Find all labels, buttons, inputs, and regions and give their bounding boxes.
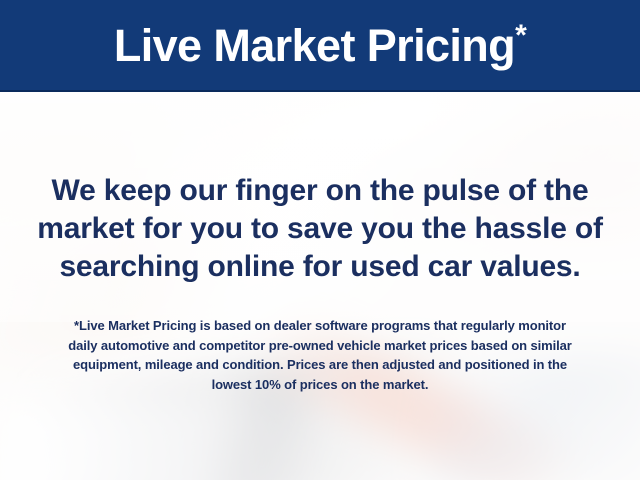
header-banner: Live Market Pricing* bbox=[0, 0, 640, 92]
disclaimer-line-3: equipment, mileage and condition. Prices… bbox=[26, 355, 614, 375]
headline: We keep our finger on the pulse of the m… bbox=[20, 172, 620, 286]
disclaimer-line-1: *Live Market Pricing is based on dealer … bbox=[26, 316, 614, 336]
disclaimer: *Live Market Pricing is based on dealer … bbox=[26, 316, 614, 394]
marketing-graphic: Live Market Pricing* We keep our finger … bbox=[0, 0, 640, 480]
page-title-text: Live Market Pricing bbox=[114, 20, 515, 71]
background-photo bbox=[0, 92, 640, 480]
headline-line-2: market for you to save you the hassle of bbox=[20, 210, 620, 248]
disclaimer-line-4: lowest 10% of prices on the market. bbox=[26, 375, 614, 395]
headline-line-3: searching online for used car values. bbox=[20, 248, 620, 286]
headline-line-1: We keep our finger on the pulse of the bbox=[20, 172, 620, 210]
footnote-asterisk: * bbox=[515, 19, 526, 52]
page-title: Live Market Pricing* bbox=[114, 23, 526, 68]
disclaimer-line-2: daily automotive and competitor pre-owne… bbox=[26, 336, 614, 356]
